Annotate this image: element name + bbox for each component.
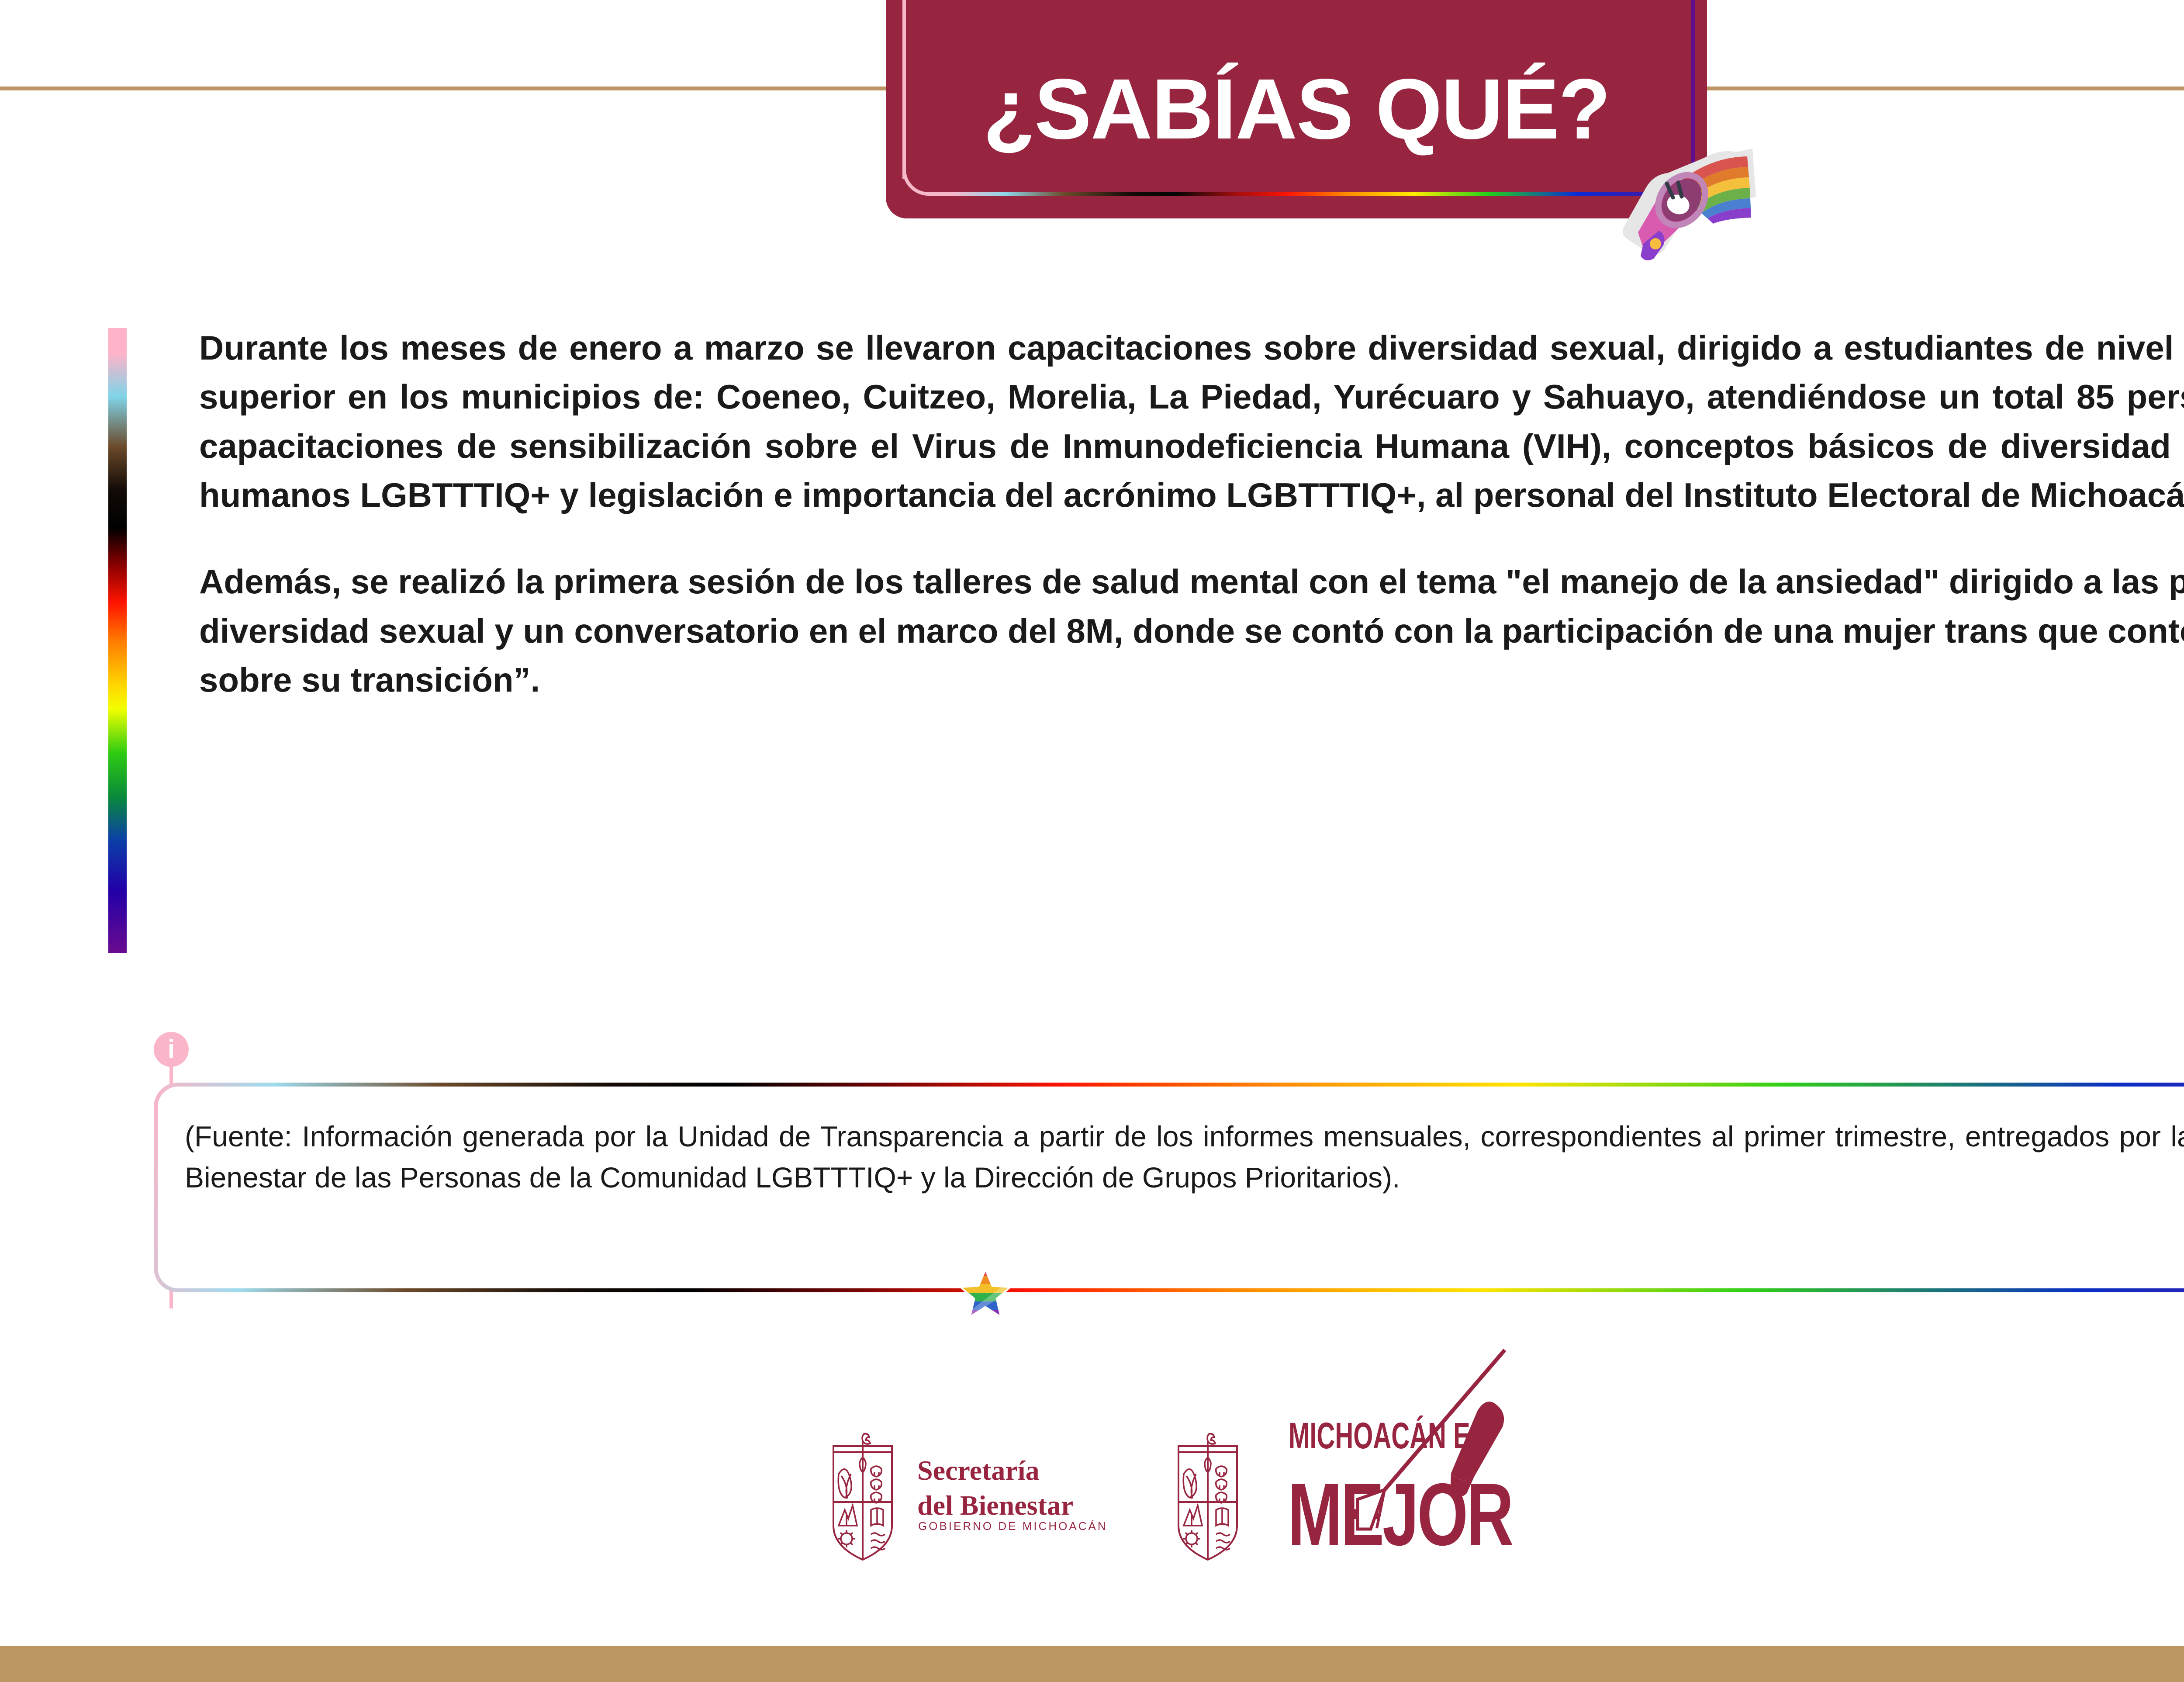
michoacan-coat-of-arms-icon — [826, 1432, 900, 1563]
megaphone-rainbow-sticker — [1612, 131, 1760, 262]
body-paragraph-1: Durante los meses de enero a marzo se ll… — [199, 323, 2184, 519]
source-box: (Fuente: Información generada por la Uni… — [154, 1083, 2184, 1292]
logo-secretaria-del-bienestar: Secretaría del Bienestar GOBIERNO DE MIC… — [826, 1432, 900, 1565]
rainbow-star-sticker — [960, 1267, 1011, 1319]
logo-secretaria-title: Secretaría del Bienestar — [917, 1453, 1073, 1523]
source-text: (Fuente: Información generada por la Uni… — [185, 1116, 2184, 1198]
body-paragraph-2: Además, se realizó la primera sesión de … — [199, 557, 2184, 704]
progress-pride-accent-bar — [108, 328, 127, 953]
michoacan-coat-of-arms-icon-2 — [1171, 1432, 1245, 1563]
source-callout: i (Fuente: Información generada por la U… — [154, 1029, 2184, 1308]
bottom-gold-bar — [0, 1646, 2184, 1682]
logo-secretaria-line1: Secretaría — [917, 1453, 1073, 1488]
body-copy: Durante los meses de enero a marzo se ll… — [199, 323, 2184, 704]
source-paragraph: (Fuente: Información generada por la Uni… — [185, 1116, 2184, 1198]
footer-logos: Secretaría del Bienestar GOBIERNO DE MIC… — [799, 1350, 1830, 1595]
logo-secretaria-line2: del Bienestar — [917, 1488, 1073, 1523]
title-banner: ¿SABÍAS QUÉ? — [886, 0, 1707, 218]
page-title: ¿SABÍAS QUÉ? — [886, 0, 1707, 218]
logo-michoacan-tagline: MICHOACÁN ES — [1289, 1415, 1487, 1457]
info-icon: i — [154, 1032, 189, 1067]
logo-michoacan-wordmark: MEJOR — [1288, 1464, 1512, 1566]
logo-secretaria-sub: GOBIERNO DE MICHOACÁN — [918, 1519, 1108, 1533]
